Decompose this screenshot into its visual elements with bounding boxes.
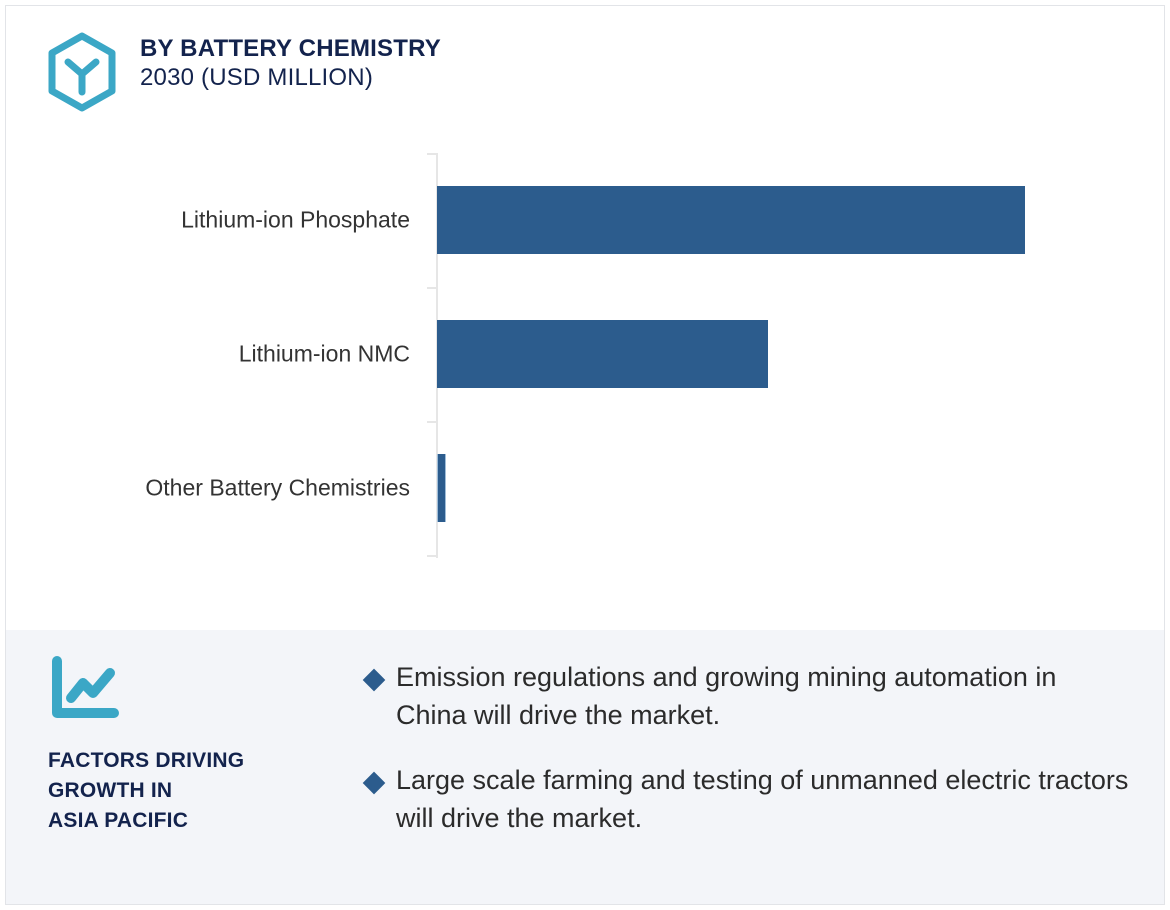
page-title: BY BATTERY CHEMISTRY (140, 35, 441, 63)
bar-category-label: Lithium-ion NMC (0, 341, 410, 368)
panel-heading: FACTORS DRIVING GROWTH IN ASIA PACIFIC (48, 746, 348, 835)
chart-header: BY BATTERY CHEMISTRY 2030 (USD MILLION) (46, 30, 441, 112)
hexagon-y-icon (46, 32, 118, 112)
header-text-block: BY BATTERY CHEMISTRY 2030 (USD MILLION) (140, 30, 441, 93)
bullet-text: Emission regulations and growing mining … (396, 658, 1134, 735)
diamond-bullet-icon (363, 669, 386, 692)
bar-row-1: Lithium-ion NMC (0, 287, 1160, 421)
bar-row-0: Lithium-ion Phosphate (0, 153, 1160, 287)
infographic-card: BY BATTERY CHEMISTRY 2030 (USD MILLION) … (0, 0, 1170, 910)
bar-value (437, 454, 446, 522)
bar-chart: Lithium-ion Phosphate Lithium-ion NMC Ot… (0, 140, 1160, 620)
bar-category-label: Other Battery Chemistries (0, 475, 410, 502)
page-subtitle: 2030 (USD MILLION) (140, 64, 441, 92)
axis-tick-bottom (427, 555, 437, 557)
line-chart-icon (48, 656, 120, 722)
bullet-text: Large scale farming and testing of unman… (396, 761, 1134, 838)
diamond-bullet-icon (363, 771, 386, 794)
factors-panel: FACTORS DRIVING GROWTH IN ASIA PACIFIC E… (6, 630, 1164, 904)
list-item: Emission regulations and growing mining … (366, 658, 1134, 735)
panel-heading-block: FACTORS DRIVING GROWTH IN ASIA PACIFIC (48, 656, 348, 835)
bar-row-2: Other Battery Chemistries (0, 421, 1160, 555)
panel-heading-line-2: GROWTH IN (48, 776, 348, 806)
bar-category-label: Lithium-ion Phosphate (0, 207, 410, 234)
bar-value (437, 186, 1025, 254)
list-item: Large scale farming and testing of unman… (366, 761, 1134, 838)
panel-heading-line-3: ASIA PACIFIC (48, 806, 348, 836)
bullet-list: Emission regulations and growing mining … (366, 658, 1134, 863)
bar-value (437, 320, 768, 388)
panel-heading-line-1: FACTORS DRIVING (48, 746, 348, 776)
